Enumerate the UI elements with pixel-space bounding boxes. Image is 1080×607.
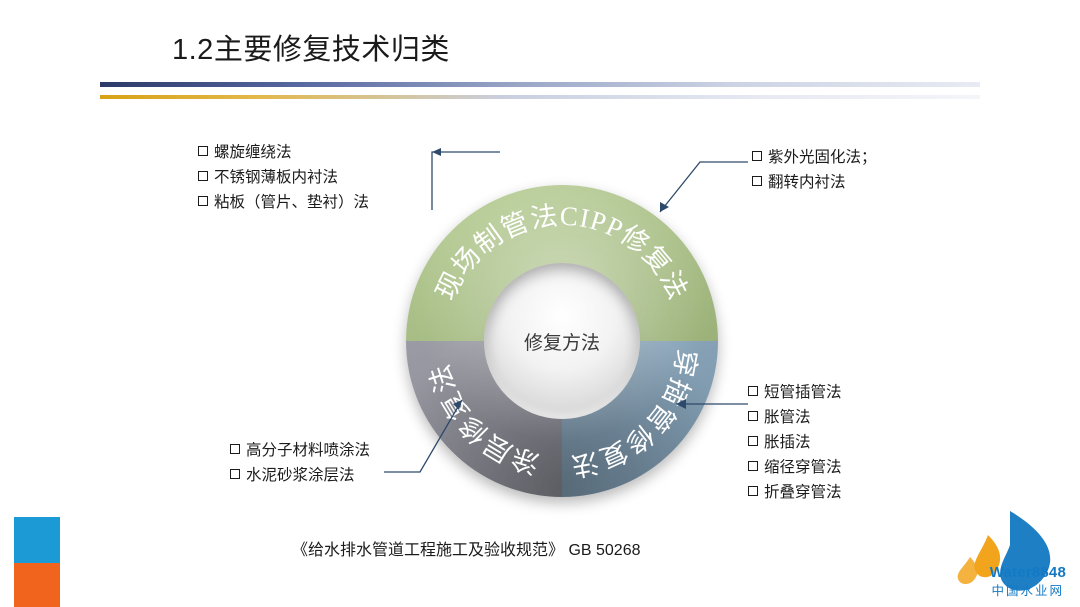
bullet-square-icon bbox=[230, 469, 240, 479]
title-divider-gold bbox=[100, 95, 980, 99]
callout-item: 螺旋缠绕法 bbox=[214, 144, 292, 161]
bullet-square-icon bbox=[198, 171, 208, 181]
callout-item: 不锈钢薄板内衬法 bbox=[214, 169, 338, 186]
callout-item: 胀插法 bbox=[764, 434, 811, 451]
callout-item: 紫外光固化法； bbox=[768, 149, 877, 166]
callout-item: 翻转内衬法 bbox=[768, 174, 846, 191]
decor-square-blue bbox=[14, 517, 60, 563]
bullet-square-icon bbox=[752, 176, 762, 186]
decor-square-orange bbox=[14, 563, 60, 607]
donut-center: 修复方法 bbox=[484, 263, 640, 419]
bullet-square-icon bbox=[748, 411, 758, 421]
bullet-square-icon bbox=[748, 436, 758, 446]
callout-cipp: 紫外光固化法； 翻转内衬法 bbox=[752, 145, 877, 195]
standard-reference-footnote: 《给水排水管道工程施工及验收规范》 GB 50268 bbox=[292, 536, 641, 560]
bullet-square-icon bbox=[748, 486, 758, 496]
bullet-square-icon bbox=[230, 444, 240, 454]
callout-item: 高分子材料喷涂法 bbox=[246, 442, 370, 459]
callout-coating-lining: 螺旋缠绕法 不锈钢薄板内衬法 粘板（管片、垫衬）法 bbox=[198, 140, 369, 215]
page-title: 1.2主要修复技术归类 bbox=[172, 26, 450, 68]
callout-item: 短管插管法 bbox=[764, 384, 842, 401]
callout-threading: 短管插管法 胀管法 胀插法 缩径穿管法 折叠穿管法 bbox=[748, 380, 842, 506]
bullet-square-icon bbox=[198, 196, 208, 206]
bullet-square-icon bbox=[198, 146, 208, 156]
leader-arrow-top-left bbox=[432, 148, 441, 156]
callout-item: 胀管法 bbox=[764, 409, 811, 426]
bullet-square-icon bbox=[748, 461, 758, 471]
bullet-square-icon bbox=[752, 151, 762, 161]
callout-item: 粘板（管片、垫衬）法 bbox=[214, 194, 369, 211]
slide-canvas: 1.2主要修复技术归类 现场制管法CIPP修复法 穿插管修复法 涂层修复法 修复… bbox=[0, 0, 1080, 607]
callout-item: 折叠穿管法 bbox=[764, 484, 842, 501]
callout-item: 缩径穿管法 bbox=[764, 459, 842, 476]
callout-item: 水泥砂浆涂层法 bbox=[246, 467, 355, 484]
watermark-text-cn: 中国水业网 bbox=[991, 580, 1064, 599]
title-divider-navy bbox=[100, 82, 980, 87]
donut-center-label: 修复方法 bbox=[484, 263, 640, 419]
repair-method-donut: 现场制管法CIPP修复法 穿插管修复法 涂层修复法 修复方法 bbox=[406, 185, 718, 497]
watermark-text-en: Water8848 bbox=[990, 564, 1066, 581]
callout-spray: 高分子材料喷涂法 水泥砂浆涂层法 bbox=[230, 438, 370, 488]
bullet-square-icon bbox=[748, 386, 758, 396]
